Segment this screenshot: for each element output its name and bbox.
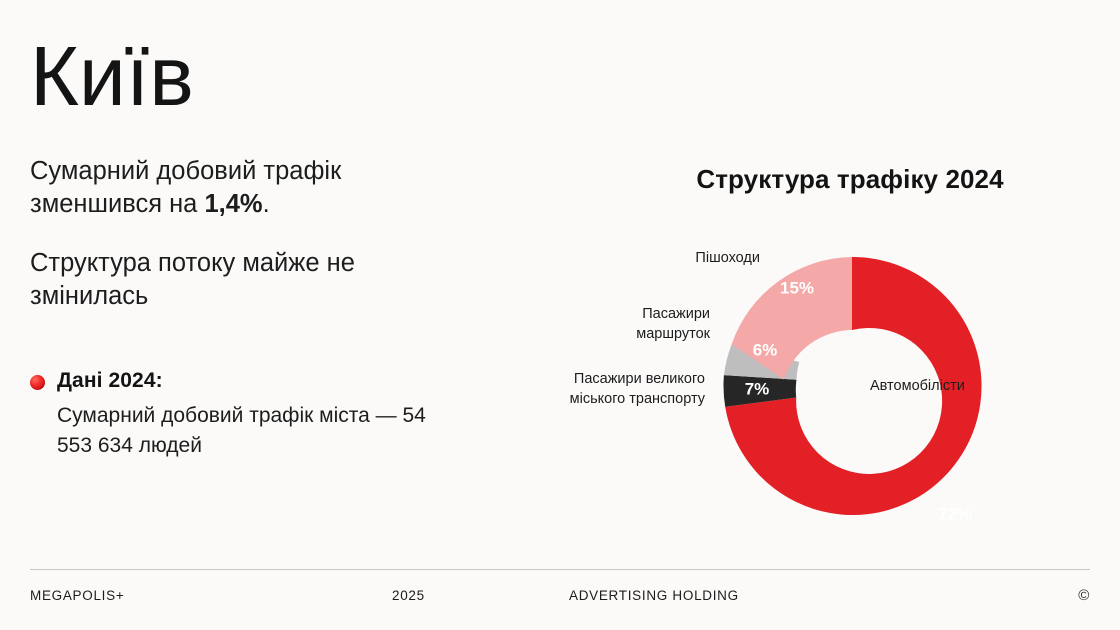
lead-prefix-text: Сумарний добовий трафік зменшився на xyxy=(30,157,341,218)
bullet-heading-label: Дані 2024: xyxy=(57,368,163,394)
slide-root: Київ Сумарний добовий трафік зменшився н… xyxy=(0,0,1120,630)
slice-value-cars: 72% xyxy=(938,504,972,523)
chart-label-big-transport-line2: міського транспорту xyxy=(515,390,705,410)
chart-label-big-transport: Пасажири великого міського транспорту xyxy=(515,370,705,409)
bullet-heading-row: Дані 2024: xyxy=(30,368,460,394)
lead-suffix-text: . xyxy=(263,190,270,218)
chart-title: Структура трафіку 2024 xyxy=(600,164,1100,195)
lead-highlight-value: 1,4% xyxy=(204,190,262,218)
donut-chart: 72% 7% 6% 15% Автомобілісти Пішоходи Пас… xyxy=(525,225,1120,535)
slice-value-big-transport: 7% xyxy=(745,379,770,398)
chart-label-cars: Автомобілісти xyxy=(870,377,965,397)
data-bullet-block: Дані 2024: Сумарний добовий трафік міста… xyxy=(30,368,460,461)
lead-paragraph: Сумарний добовий трафік зменшився на 1,4… xyxy=(30,155,430,221)
chart-label-marshrutka: Пасажири маршруток xyxy=(515,305,710,344)
left-content-column: Київ Сумарний добовий трафік зменшився н… xyxy=(30,36,500,313)
secondary-paragraph: Структура потоку майже не змінилась xyxy=(30,247,430,313)
chart-label-big-transport-line1: Пасажири великого xyxy=(515,370,705,390)
slice-value-marshrutka: 6% xyxy=(753,340,778,359)
red-bullet-dot-icon xyxy=(30,375,45,390)
footer-tagline-label: ADVERTISING HOLDING xyxy=(569,588,739,603)
chart-label-pedestrians: Пішоходи xyxy=(515,249,760,269)
bullet-body-text: Сумарний добовий трафік міста — 54 553 6… xyxy=(57,401,460,461)
footer-bar: MEGAPOLIS+ 2025 ADVERTISING HOLDING © xyxy=(30,588,1090,612)
chart-label-marshrutka-line1: Пасажири xyxy=(515,305,710,325)
copyright-icon: © xyxy=(1078,587,1090,604)
slice-value-pedestrians: 15% xyxy=(780,278,814,297)
chart-label-marshrutka-line2: маршруток xyxy=(515,325,710,345)
footer-year-label: 2025 xyxy=(392,588,425,603)
footer-brand-label: MEGAPOLIS+ xyxy=(30,588,124,603)
footer-divider xyxy=(30,569,1090,570)
page-title: Київ xyxy=(30,36,500,117)
